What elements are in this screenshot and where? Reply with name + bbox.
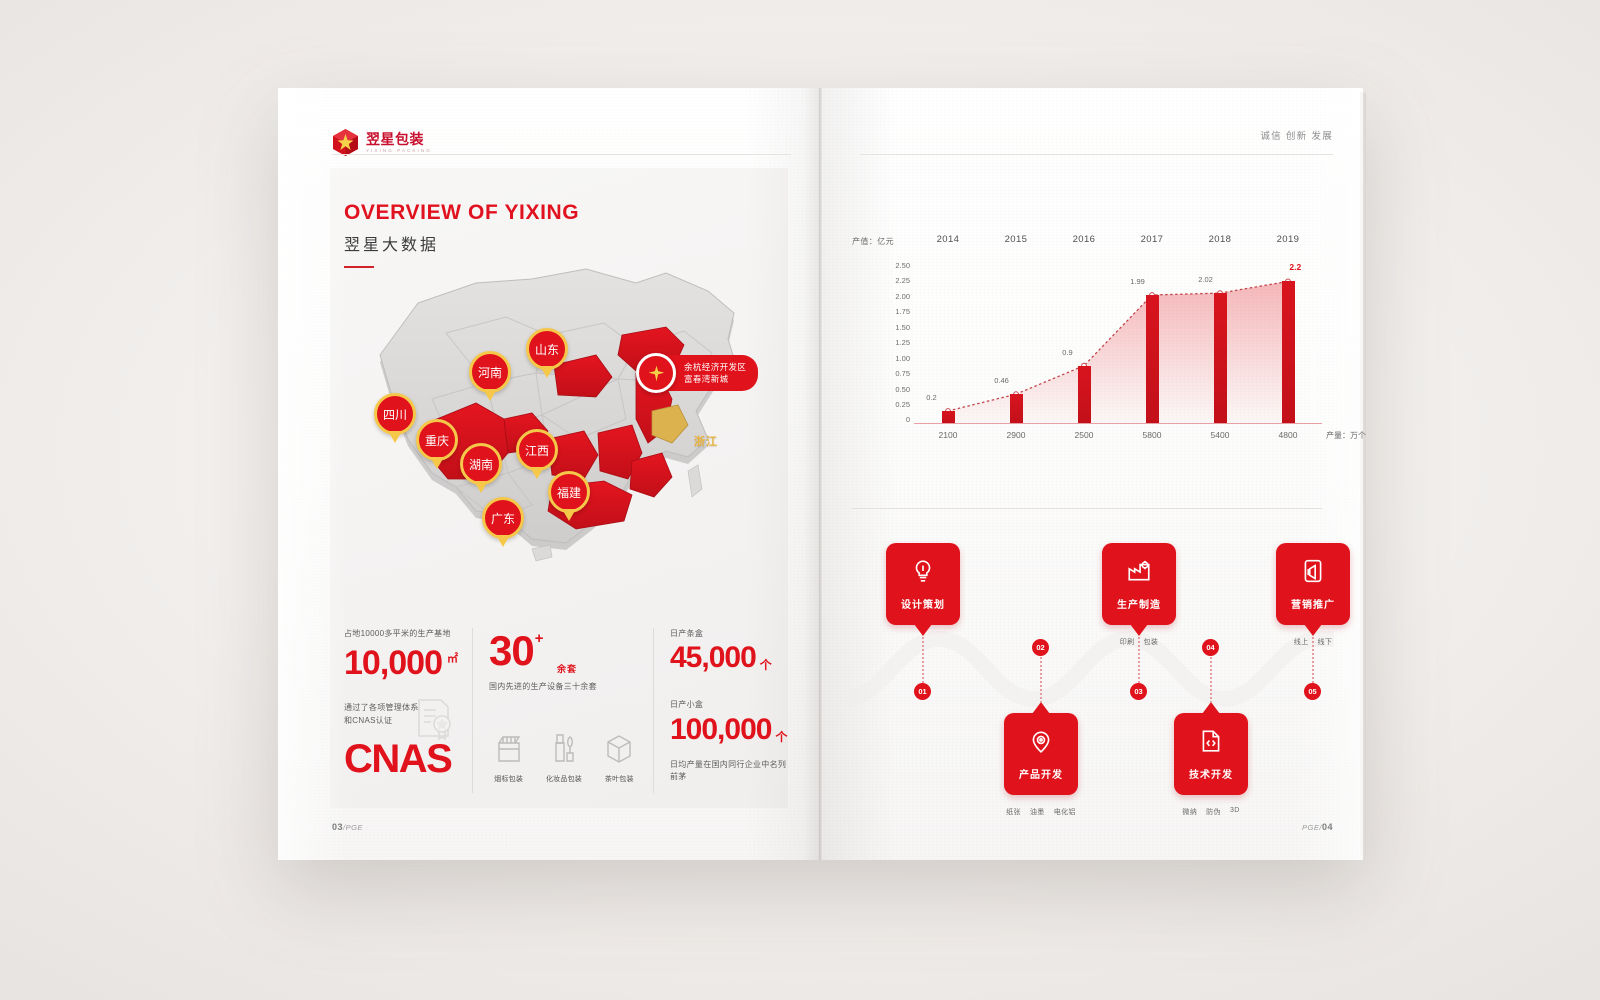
daily-small-unit: 个 <box>775 728 787 745</box>
process-step-subs: 纸张油墨电化铝 <box>986 807 1096 817</box>
map-pin-sichuan[interactable]: 四川 <box>374 393 416 435</box>
footer-page-number: 03 <box>332 822 343 832</box>
chart-bar-group: 0.46 <box>982 262 1050 424</box>
header-rule-left <box>332 154 791 155</box>
process-sub-label: 纸张 <box>1006 807 1021 817</box>
pin-label: 山东 <box>526 328 568 370</box>
daily-small-value: 100,000 <box>670 715 771 745</box>
y-tick: 2.25 <box>895 277 910 285</box>
china-map: 山东 河南 四川 重庆 湖南 江西 福建 广东 浙江 <box>336 243 786 613</box>
process-step-pointer <box>1202 702 1220 714</box>
chart-y-axis: 2.50 2.25 2.00 1.75 1.50 1.25 1.00 0.75 … <box>874 262 910 424</box>
page-title-en: OVERVIEW OF YIXING <box>344 201 579 225</box>
footer-page-number: 04 <box>1322 822 1333 832</box>
process-connector <box>1138 637 1142 683</box>
chart-bar-group: 0.2 <box>914 262 982 424</box>
equipment-superscript: + <box>535 630 544 647</box>
hexagon-star-logo-icon <box>332 128 359 157</box>
y-tick: 0.75 <box>895 370 910 378</box>
pin-label: 河南 <box>469 351 511 393</box>
brand-logo: 翌星包装 YIXING PACKING <box>332 128 432 157</box>
chart-bar <box>1010 394 1023 424</box>
chart-bars: 0.20.460.91.992.022.2 <box>914 262 1322 424</box>
province-label-zhejiang: 浙江 <box>694 433 718 449</box>
y-tick: 1.25 <box>895 339 910 347</box>
process-connector <box>1040 657 1044 703</box>
x-value: 2500 <box>1050 430 1118 440</box>
y-tick: 1.00 <box>895 355 910 363</box>
target-pin-icon <box>1028 728 1054 759</box>
process-step-pointer <box>1032 702 1050 714</box>
daily-note: 日均产量在国内同行企业中名列前茅 <box>670 759 787 784</box>
map-pin-shandong[interactable]: 山东 <box>526 328 568 370</box>
code-document-icon <box>1198 728 1224 759</box>
product-cosmetic: 化妆品包装 <box>544 731 583 784</box>
year-tick: 2018 <box>1186 234 1254 245</box>
map-hq-callout[interactable]: 余杭经济开发区 富春湾新城 <box>636 353 758 393</box>
process-connector <box>1312 637 1316 683</box>
equipment-value: 30 <box>489 630 534 672</box>
stat-column-daily: 日产条盒 45,000 个 日产小盒 100,000 个 日均产量在国内同行企业… <box>653 628 801 793</box>
year-tick: 2016 <box>1050 234 1118 245</box>
hq-line-1: 余杭经济开发区 <box>684 361 746 373</box>
process-step-label: 产品开发 <box>1019 766 1063 781</box>
pin-label: 江西 <box>516 429 558 471</box>
process-sub-label: 防伪 <box>1206 807 1221 817</box>
map-pin-fujian[interactable]: 福建 <box>548 471 590 513</box>
brochure-spread: 翌星包装 YIXING PACKING OVERVIEW OF YIXING 翌… <box>278 88 1363 860</box>
map-pin-hunan[interactable]: 湖南 <box>460 443 502 485</box>
process-step-pointer <box>1130 624 1148 636</box>
statistics-band: 占地10000多平米的生产基地 10,000 ㎡ 通过了各项管理体系 和CNAS… <box>344 628 776 793</box>
stat-column-equipment: 30 + 余套 国内先进的生产设备三十余套 <box>472 628 653 793</box>
process-sub-label: 微纳 <box>1182 807 1197 817</box>
daily-strip-unit: 个 <box>760 656 772 673</box>
pin-label: 福建 <box>548 471 590 513</box>
process-sub-label: 油墨 <box>1030 807 1045 817</box>
process-step-number: 03 <box>1130 683 1147 700</box>
process-step-pointer <box>914 624 932 636</box>
process-step-04[interactable]: 技术开发 <box>1174 713 1248 795</box>
process-step-label: 营销推广 <box>1291 596 1335 611</box>
pin-label: 重庆 <box>416 419 458 461</box>
location-plane-icon <box>636 353 676 393</box>
equipment-caption: 国内先进的生产设备三十余套 <box>489 681 639 693</box>
hq-line-2: 富春湾新城 <box>684 373 746 385</box>
area-caption: 占地10000多平米的生产基地 <box>344 628 458 640</box>
logo-text-en: YIXING PACKING <box>366 149 432 154</box>
process-sub-label: 线上 <box>1294 637 1309 647</box>
process-step-05[interactable]: 营销推广 <box>1276 543 1350 625</box>
y-tick: 2.50 <box>895 262 910 270</box>
footer-right: PGE/04 <box>1302 822 1333 832</box>
process-step-03[interactable]: 生产制造 <box>1102 543 1176 625</box>
tea-box-icon <box>604 731 634 768</box>
cigarette-pack-icon <box>495 731 523 768</box>
process-step-subs: 微纳防伪3D <box>1156 807 1266 817</box>
x-value: 2100 <box>914 430 982 440</box>
process-sub-label: 电化铝 <box>1054 807 1076 817</box>
chart-bar-group: 2.02 <box>1186 262 1254 424</box>
section-divider <box>852 508 1322 509</box>
chart-bar-label: 1.99 <box>1130 277 1145 286</box>
chart-bar-label: 2.2 <box>1289 262 1301 272</box>
page-title-cn: 翌星大数据 <box>344 231 439 255</box>
process-step-02[interactable]: 产品开发 <box>1004 713 1078 795</box>
process-step-number: 01 <box>914 683 931 700</box>
process-step-number: 02 <box>1032 639 1049 656</box>
footer-left: 03/PGE <box>332 822 363 832</box>
map-pin-henan[interactable]: 河南 <box>469 351 511 393</box>
factory-gear-icon <box>1126 558 1152 589</box>
process-flow: 设计策划01产品开发纸张油墨电化铝02生产制造印刷包装03技术开发微纳防伪3D0… <box>844 533 1334 813</box>
right-page: 诚信 创新 发展 产值：亿元 2014 2015 2016 2017 2018 … <box>820 88 1363 860</box>
product-cigarette: 烟标包装 <box>489 731 528 784</box>
chart-bar <box>1282 281 1295 424</box>
y-tick: 0 <box>906 416 910 424</box>
chart-bar <box>1146 295 1159 424</box>
map-pin-jiangxi[interactable]: 江西 <box>516 429 558 471</box>
year-tick: 2017 <box>1118 234 1186 245</box>
pin-label: 四川 <box>374 393 416 435</box>
header-rule-right <box>860 154 1333 155</box>
chart-year-axis: 2014 2015 2016 2017 2018 2019 <box>914 234 1322 245</box>
lipstick-icon <box>550 731 578 768</box>
product-label: 茶叶包装 <box>605 774 634 784</box>
footer-page-label: /PGE <box>343 823 363 832</box>
area-value: 10,000 <box>344 646 442 680</box>
product-type-list: 烟标包装 化妆品包装 <box>489 731 639 784</box>
x-value: 2900 <box>982 430 1050 440</box>
process-sub-label: 印刷 <box>1120 637 1135 647</box>
daily-strip-caption: 日产条盒 <box>670 628 787 640</box>
certificate-seal-icon <box>414 696 454 745</box>
year-tick: 2014 <box>914 234 982 245</box>
chart-bar <box>1078 366 1091 424</box>
chart-bar-group: 2.2 <box>1254 262 1322 424</box>
map-pin-chongqing[interactable]: 重庆 <box>416 419 458 461</box>
process-step-label: 技术开发 <box>1189 766 1233 781</box>
year-tick: 2019 <box>1254 234 1322 245</box>
daily-strip-value: 45,000 <box>670 643 756 673</box>
pin-label: 湖南 <box>460 443 502 485</box>
header-slogan: 诚信 创新 发展 <box>1260 128 1333 142</box>
chart-bar-group: 1.99 <box>1118 262 1186 424</box>
footer-page-label: PGE/ <box>1302 823 1322 832</box>
chart-xlabel: 产量：万个 <box>1326 430 1366 441</box>
process-step-01[interactable]: 设计策划 <box>886 543 960 625</box>
page-edge <box>1360 92 1366 856</box>
x-value: 5400 <box>1186 430 1254 440</box>
mobile-megaphone-icon <box>1300 558 1326 589</box>
year-tick: 2015 <box>982 234 1050 245</box>
process-step-label: 生产制造 <box>1117 596 1161 611</box>
map-pin-guangdong[interactable]: 广东 <box>482 497 524 539</box>
chart-bar-label: 0.9 <box>1062 348 1072 357</box>
process-step-number: 05 <box>1304 683 1321 700</box>
chart-x-values: 2100 2900 2500 5800 5400 4800 <box>914 430 1322 440</box>
y-tick: 1.50 <box>895 324 910 332</box>
process-sub-label: 包装 <box>1144 637 1159 647</box>
pin-label: 广东 <box>482 497 524 539</box>
title-underline <box>344 266 374 268</box>
y-tick: 0.25 <box>895 401 910 409</box>
process-step-number: 04 <box>1202 639 1219 656</box>
y-tick: 2.00 <box>895 293 910 301</box>
chart-bar <box>1214 293 1227 424</box>
chart-bar-label: 0.46 <box>994 376 1009 385</box>
product-tea: 茶叶包装 <box>600 731 639 784</box>
x-value: 4800 <box>1254 430 1322 440</box>
chart-ylabel: 产值：亿元 <box>852 236 894 247</box>
chart-bar-label: 2.02 <box>1198 275 1213 284</box>
process-connector <box>922 637 926 683</box>
process-sub-label: 3D <box>1230 807 1240 817</box>
x-value: 5800 <box>1118 430 1186 440</box>
stat-column-area: 占地10000多平米的生产基地 10,000 ㎡ 通过了各项管理体系 和CNAS… <box>344 628 472 793</box>
product-label: 烟标包装 <box>494 774 523 784</box>
chart-bar-group: 0.9 <box>1050 262 1118 424</box>
process-step-label: 设计策划 <box>901 596 945 611</box>
chart-baseline <box>914 423 1322 424</box>
left-page: 翌星包装 YIXING PACKING OVERVIEW OF YIXING 翌… <box>278 88 821 860</box>
lightbulb-idea-icon <box>910 558 936 589</box>
process-sub-label: 线下 <box>1318 637 1333 647</box>
process-step-pointer <box>1304 624 1322 636</box>
logo-text-cn: 翌星包装 <box>366 132 432 146</box>
chart-bar-label: 0.2 <box>926 393 936 402</box>
product-label: 化妆品包装 <box>546 774 582 784</box>
area-unit: ㎡ <box>447 650 458 666</box>
y-tick: 0.50 <box>895 386 910 394</box>
process-connector <box>1210 657 1214 703</box>
y-tick: 1.75 <box>895 308 910 316</box>
chart-plot-area: 0.20.460.91.992.022.2 <box>914 262 1322 424</box>
daily-small-caption: 日产小盒 <box>670 699 787 711</box>
production-chart: 产值：亿元 2014 2015 2016 2017 2018 2019 2.50… <box>852 258 1322 468</box>
